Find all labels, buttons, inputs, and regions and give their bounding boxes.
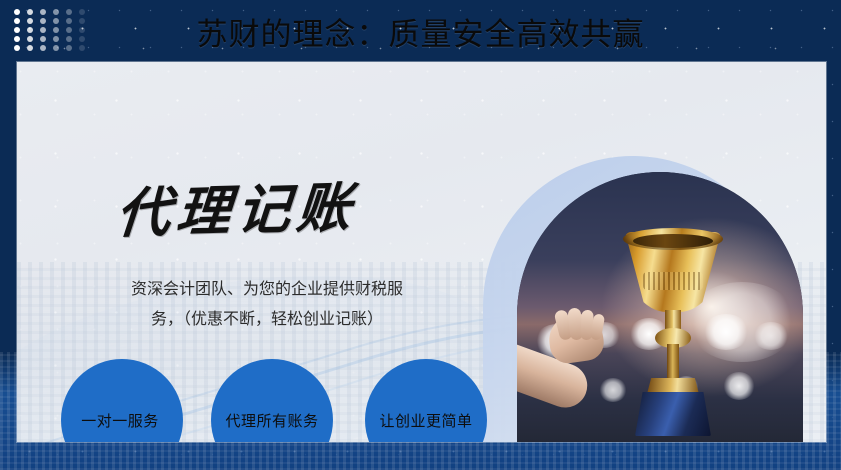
trophy-base xyxy=(635,392,711,436)
header-bar: 苏财的理念：质量安全高效共赢 xyxy=(0,0,841,62)
trophy-base-top xyxy=(647,378,699,394)
badge-label: 一对一服务 xyxy=(81,410,159,431)
slide-canvas: 苏财的理念：质量安全高效共赢 xyxy=(0,0,841,470)
badge-circle-one-to-one-service[interactable]: 一对一服务 xyxy=(61,359,183,442)
subtext-line-2: 务，（优惠不断，轻松创业记账） xyxy=(77,304,457,334)
bokeh-light xyxy=(545,380,575,406)
trophy-inner xyxy=(633,234,713,248)
subtext-line-1: 资深会计团队、为您的企业提供财税服 xyxy=(77,274,457,304)
subtext-block: 资深会计团队、为您的企业提供财税服 务，（优惠不断，轻松创业记账） xyxy=(77,274,457,334)
content-card: 代理记账 资深会计团队、为您的企业提供财税服 务，（优惠不断，轻松创业记账） 一… xyxy=(17,62,826,442)
trophy-photo xyxy=(517,172,803,442)
badge-circle-all-accounting[interactable]: 代理所有账务 xyxy=(211,359,333,442)
trophy-lower-stem xyxy=(667,344,679,382)
badge-label: 让创业更简单 xyxy=(379,410,472,431)
page-title: 苏财的理念：质量安全高效共赢 xyxy=(0,0,841,62)
bokeh-light xyxy=(535,324,579,358)
trophy-engraving xyxy=(643,272,703,290)
headline: 代理记账 xyxy=(114,163,361,248)
gold-trophy-icon xyxy=(613,232,733,442)
badge-label: 代理所有账务 xyxy=(225,410,318,431)
badge-circle-simpler-startup[interactable]: 让创业更简单 xyxy=(365,359,487,442)
